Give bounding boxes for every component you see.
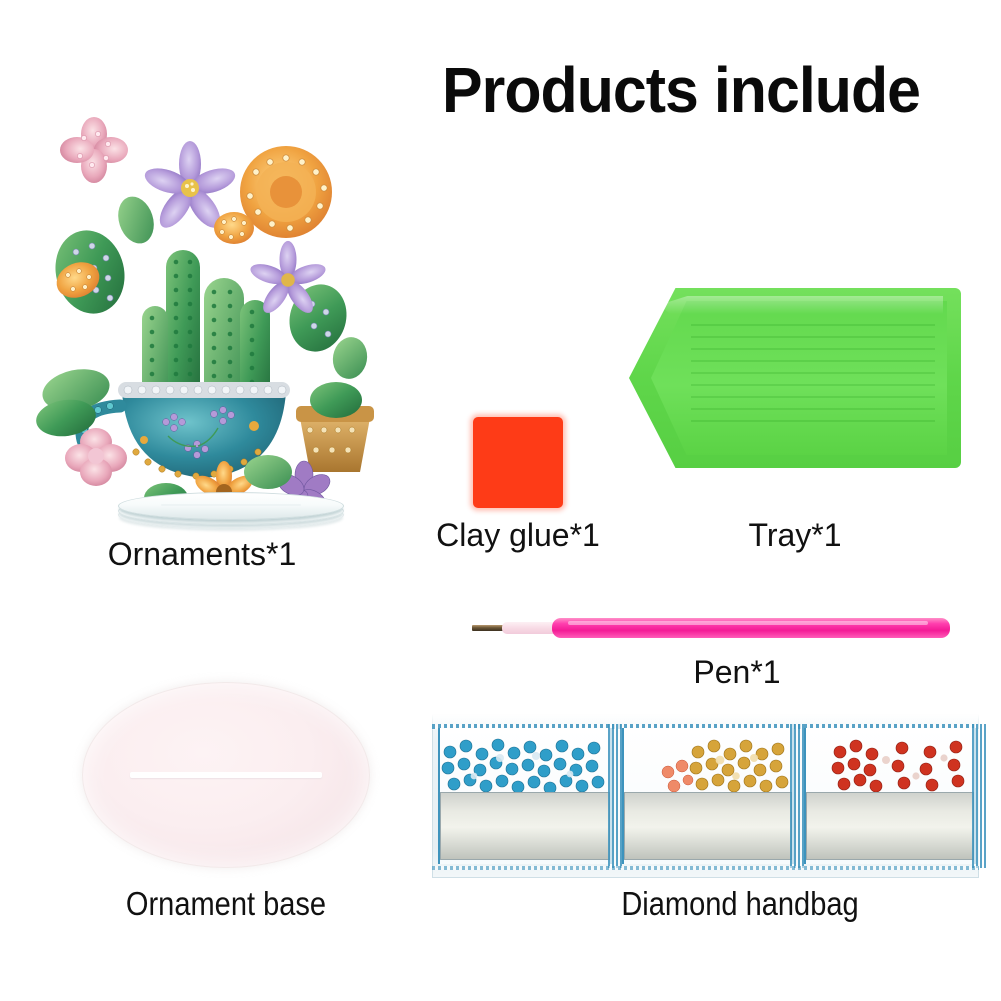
pen-ferrule — [502, 622, 558, 634]
handbag-seam — [972, 724, 986, 868]
tray-product-image — [629, 288, 961, 468]
tray-groove — [691, 324, 935, 326]
tray-groove — [691, 420, 935, 422]
page-title: Products include — [442, 58, 920, 122]
stand-groove — [161, 504, 301, 506]
pen-label: Pen*1 — [612, 656, 862, 690]
tray-groove — [691, 348, 935, 350]
handbag-cell-gold — [622, 728, 794, 864]
diamond-handbag-label: Diamond handbag — [582, 887, 899, 922]
tray-groove — [691, 336, 935, 338]
ornaments-label: Ornaments*1 — [52, 538, 352, 572]
clay-glue-product-image — [473, 417, 563, 508]
tray-groove — [691, 408, 935, 410]
handbag-cell-blue — [438, 728, 612, 864]
handbag-seam — [608, 724, 622, 868]
gold-drills — [624, 736, 792, 798]
handbag-cell-red — [804, 728, 976, 864]
handbag-foil-red — [806, 792, 974, 860]
handbag-foil-gold — [624, 792, 792, 860]
ornament-acrylic-stand — [118, 492, 342, 524]
stand-plate-front — [118, 492, 344, 520]
pen-product-image — [472, 617, 950, 639]
tray-groove — [691, 360, 935, 362]
ornament-base-product-image — [82, 682, 370, 868]
tray-groove — [691, 384, 935, 386]
product-contents-image: Products include — [0, 0, 1001, 1001]
blue-drills — [440, 736, 610, 798]
clay-glue-label: Clay glue*1 — [378, 519, 658, 553]
diamond-handbag-product-image — [432, 714, 979, 878]
ornaments-product-image — [18, 100, 378, 530]
tray-groove — [691, 372, 935, 374]
handbag-foil-blue — [440, 792, 610, 860]
red-drills — [806, 736, 974, 798]
tray-groove — [691, 396, 935, 398]
handbag-seam — [790, 724, 804, 868]
pen-highlight — [568, 621, 928, 625]
tray-highlight — [659, 296, 943, 314]
handbag-bottom-seal — [432, 866, 979, 870]
cactus-teacup-illustration — [18, 100, 378, 530]
ornament-base-label: Ornament base — [94, 887, 358, 922]
ornament-base-slot — [130, 772, 322, 778]
tray-label: Tray*1 — [665, 519, 925, 553]
